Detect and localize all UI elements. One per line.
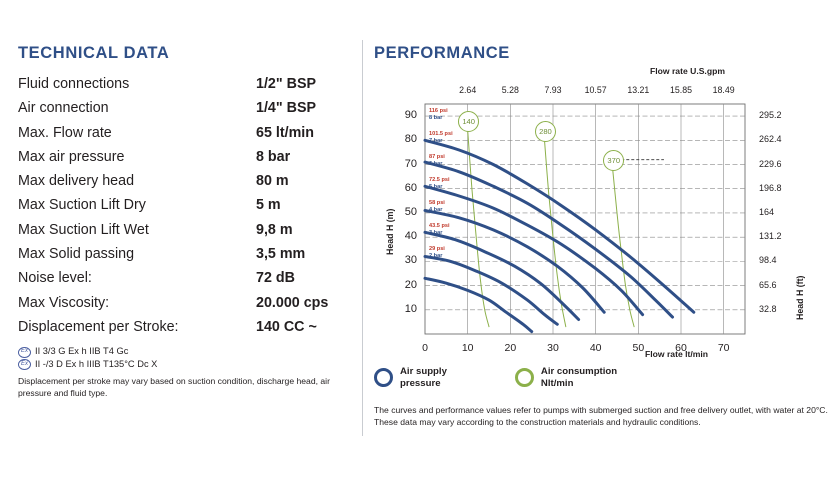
legend-label-line2: Nlt/min xyxy=(541,378,617,390)
curve-label-bar: 7 bar xyxy=(429,138,453,145)
x-tick-top: 15.85 xyxy=(663,85,699,95)
spec-label: Max delivery head xyxy=(18,174,256,188)
curve-label-psi: 43.5 psi xyxy=(429,223,450,230)
spec-row: Max air pressure8 bar xyxy=(18,145,354,169)
curve-label-psi: 58 psi xyxy=(429,200,445,207)
y-tick-right: 98.4 xyxy=(759,255,799,265)
spec-label: Noise level: xyxy=(18,271,256,285)
displacement-note: Displacement per stroke may vary based o… xyxy=(18,376,338,399)
spec-row: Fluid connections1/2" BSP xyxy=(18,72,354,96)
x-tick-bottom: 50 xyxy=(623,342,653,354)
curve-label: 58 psi4 bar xyxy=(429,200,445,214)
atex-marking: ExII 3/3 G Ex h IIB T4 Gc xyxy=(18,346,354,358)
spec-value: 140 CC ~ xyxy=(256,320,317,334)
spec-value: 9,8 m xyxy=(256,223,293,237)
x-tick-bottom: 40 xyxy=(581,342,611,354)
y-tick-right: 164 xyxy=(759,207,799,217)
curve-label: 101.5 psi7 bar xyxy=(429,131,453,145)
y-tick-right: 196.8 xyxy=(759,183,799,193)
spec-label: Displacement per Stroke: xyxy=(18,320,256,334)
spec-label: Air connection xyxy=(18,101,256,115)
x-tick-top: 7.93 xyxy=(535,85,571,95)
spec-row: Max delivery head80 m xyxy=(18,169,354,193)
y-tick-left: 40 xyxy=(385,230,417,242)
ex-badge-icon: Ex xyxy=(18,359,31,370)
y-tick-right: 295.2 xyxy=(759,110,799,120)
spec-label: Max Viscosity: xyxy=(18,296,256,310)
curve-label-bar: 8 bar xyxy=(429,115,448,122)
curve-label: 43.5 psi3 bar xyxy=(429,223,450,237)
y-tick-left: 80 xyxy=(385,133,417,145)
spec-label: Max air pressure xyxy=(18,150,256,164)
curve-label: 116 psi8 bar xyxy=(429,108,448,122)
curve-label-bar: 2 bar xyxy=(429,253,445,260)
curve-label: 72.5 psi5 bar xyxy=(429,177,450,191)
curve-label-psi: 87 psi xyxy=(429,154,445,161)
legend-item-air-supply-pressure: Air supplypressure xyxy=(374,366,447,389)
spec-label: Max Solid passing xyxy=(18,247,256,261)
spec-value: 3,5 mm xyxy=(256,247,305,261)
y-tick-left: 90 xyxy=(385,109,417,121)
curve-label-bar: 4 bar xyxy=(429,207,445,214)
spec-row: Noise level:72 dB xyxy=(18,266,354,290)
y-tick-left: 10 xyxy=(385,303,417,315)
spec-label: Max. Flow rate xyxy=(18,126,256,140)
spec-value: 80 m xyxy=(256,174,289,188)
y-tick-right: 229.6 xyxy=(759,159,799,169)
atex-marking: ExII -/3 D Ex h IIIB T135°C Dc X xyxy=(18,359,354,371)
chart-legend: Air supplypressureAir consumptionNlt/min xyxy=(374,366,617,389)
spec-row: Max Viscosity:20.000 cps xyxy=(18,291,354,315)
spec-row: Max Solid passing3,5 mm xyxy=(18,242,354,266)
legend-label-line2: pressure xyxy=(400,378,447,390)
spec-list: Fluid connections1/2" BSPAir connection1… xyxy=(18,72,354,339)
x-tick-top: 18.49 xyxy=(706,85,742,95)
legend-ring-icon xyxy=(374,368,393,387)
y-tick-left: 70 xyxy=(385,158,417,170)
legend-item-air-consumption: Air consumptionNlt/min xyxy=(515,366,617,389)
panel-divider xyxy=(362,40,363,436)
spec-label: Max Suction Lift Dry xyxy=(18,198,256,212)
spec-row: Displacement per Stroke:140 CC ~ xyxy=(18,315,354,339)
x-tick-bottom: 10 xyxy=(453,342,483,354)
y-tick-right: 65.6 xyxy=(759,280,799,290)
spec-value: 20.000 cps xyxy=(256,296,328,310)
x-tick-top: 5.28 xyxy=(492,85,528,95)
spec-value: 65 lt/min xyxy=(256,126,314,140)
legend-label: Air consumptionNlt/min xyxy=(541,366,617,389)
air-consumption-badge: 280 xyxy=(535,121,556,142)
y-tick-right: 262.4 xyxy=(759,134,799,144)
x-tick-bottom: 60 xyxy=(666,342,696,354)
spec-label: Fluid connections xyxy=(18,77,256,91)
spec-value: 1/2" BSP xyxy=(256,77,316,91)
legend-label-line1: Air supply xyxy=(400,366,447,378)
spec-value: 8 bar xyxy=(256,150,290,164)
x-tick-top: 2.64 xyxy=(450,85,486,95)
datasheet-page: TECHNICAL DATA Fluid connections1/2" BSP… xyxy=(0,0,835,500)
y-tick-right: 131.2 xyxy=(759,231,799,241)
x-tick-top: 13.21 xyxy=(620,85,656,95)
x-tick-bottom: 0 xyxy=(410,342,440,354)
curve-label: 29 psi2 bar xyxy=(429,246,445,260)
spec-value: 72 dB xyxy=(256,271,295,285)
ex-badge-icon: Ex xyxy=(18,347,31,358)
technical-data-panel: TECHNICAL DATA Fluid connections1/2" BSP… xyxy=(18,44,354,400)
legend-label: Air supplypressure xyxy=(400,366,447,389)
plot-frame xyxy=(425,104,745,334)
curve-label-psi: 72.5 psi xyxy=(429,177,450,184)
y-tick-left: 50 xyxy=(385,206,417,218)
spec-label: Max Suction Lift Wet xyxy=(18,223,256,237)
legend-ring-icon xyxy=(515,368,534,387)
curve-label-bar: 6 bar xyxy=(429,161,445,168)
atex-marking-list: ExII 3/3 G Ex h IIB T4 GcExII -/3 D Ex h… xyxy=(18,346,354,370)
spec-row: Max Suction Lift Wet9,8 m xyxy=(18,218,354,242)
curve-label: 87 psi6 bar xyxy=(429,154,445,168)
curve-label-bar: 3 bar xyxy=(429,230,450,237)
y-tick-right: 32.8 xyxy=(759,304,799,314)
performance-chart: 10203040506070809032.865.698.4131.216419… xyxy=(374,60,829,370)
x-tick-bottom: 70 xyxy=(709,342,739,354)
x-tick-bottom: 30 xyxy=(538,342,568,354)
atex-marking-text: II 3/3 G Ex h IIB T4 Gc xyxy=(35,346,128,358)
curve-label-psi: 101.5 psi xyxy=(429,131,453,138)
spec-value: 5 m xyxy=(256,198,281,212)
curve-label-psi: 29 psi xyxy=(429,246,445,253)
spec-value: 1/4" BSP xyxy=(256,101,316,115)
x-tick-bottom: 20 xyxy=(495,342,525,354)
atex-marking-text: II -/3 D Ex h IIIB T135°C Dc X xyxy=(35,359,157,371)
y-tick-left: 60 xyxy=(385,182,417,194)
y-tick-left: 20 xyxy=(385,279,417,291)
x-tick-top: 10.57 xyxy=(578,85,614,95)
legend-label-line1: Air consumption xyxy=(541,366,617,378)
spec-row: Max. Flow rate65 lt/min xyxy=(18,121,354,145)
curve-label-bar: 5 bar xyxy=(429,184,450,191)
technical-data-title: TECHNICAL DATA xyxy=(18,44,354,63)
y-tick-left: 30 xyxy=(385,254,417,266)
curve-label-psi: 116 psi xyxy=(429,108,448,115)
spec-row: Air connection1/4" BSP xyxy=(18,96,354,120)
performance-note: The curves and performance values refer … xyxy=(374,404,829,429)
spec-row: Max Suction Lift Dry5 m xyxy=(18,193,354,217)
